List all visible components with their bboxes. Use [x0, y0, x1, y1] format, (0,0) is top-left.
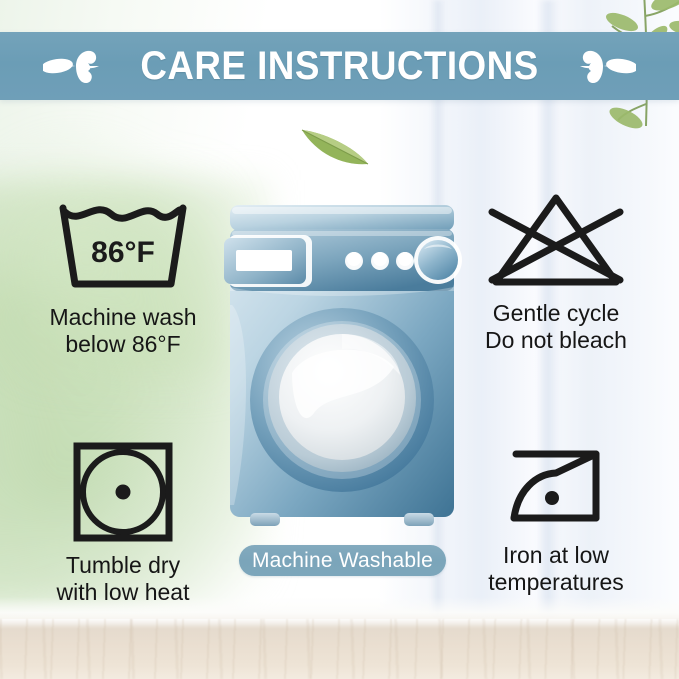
iron-caption-line2: temperatures [441, 569, 671, 596]
background-table-grain [0, 619, 679, 679]
care-symbol-machine-wash: 86°F Machine wash below 86°F [8, 196, 238, 358]
tumble-dry-low-icon [71, 440, 175, 544]
washing-machine-illustration [222, 205, 462, 535]
do-not-bleach-caption: Gentle cycle Do not bleach [441, 300, 671, 354]
do-not-bleach-caption-line2: Do not bleach [441, 327, 671, 354]
do-not-bleach-caption-line1: Gentle cycle [441, 300, 671, 327]
do-not-bleach-triangle-icon [478, 190, 634, 294]
care-symbol-iron: Iron at low temperatures [441, 440, 671, 596]
page-title: CARE INSTRUCTIONS [140, 44, 538, 89]
iron-low-temperature-icon [492, 440, 620, 536]
care-symbol-do-not-bleach: Gentle cycle Do not bleach [441, 190, 671, 354]
fleur-de-lis-ornament-right-icon [570, 45, 636, 87]
floating-leaf [296, 120, 374, 172]
machine-washable-badge-label: Machine Washable [252, 549, 433, 573]
fleur-de-lis-ornament-left-icon [43, 45, 109, 87]
tumble-dry-caption-line2: with low heat [8, 579, 238, 606]
iron-caption-line1: Iron at low [441, 542, 671, 569]
header-banner: CARE INSTRUCTIONS [0, 32, 679, 100]
iron-caption: Iron at low temperatures [441, 542, 671, 596]
wash-tub-icon: 86°F [47, 196, 199, 296]
machine-wash-caption: Machine wash below 86°F [8, 304, 238, 358]
wash-temperature-text: 86°F [91, 236, 155, 269]
tumble-dry-caption-line1: Tumble dry [8, 552, 238, 579]
machine-wash-caption-line1: Machine wash [8, 304, 238, 331]
tumble-dry-caption: Tumble dry with low heat [8, 552, 238, 606]
care-symbol-tumble-dry: Tumble dry with low heat [8, 440, 238, 606]
care-instructions-infographic: CARE INSTRUCTIONS [0, 0, 679, 679]
machine-washable-badge: Machine Washable [239, 545, 446, 576]
machine-wash-caption-line2: below 86°F [8, 331, 238, 358]
